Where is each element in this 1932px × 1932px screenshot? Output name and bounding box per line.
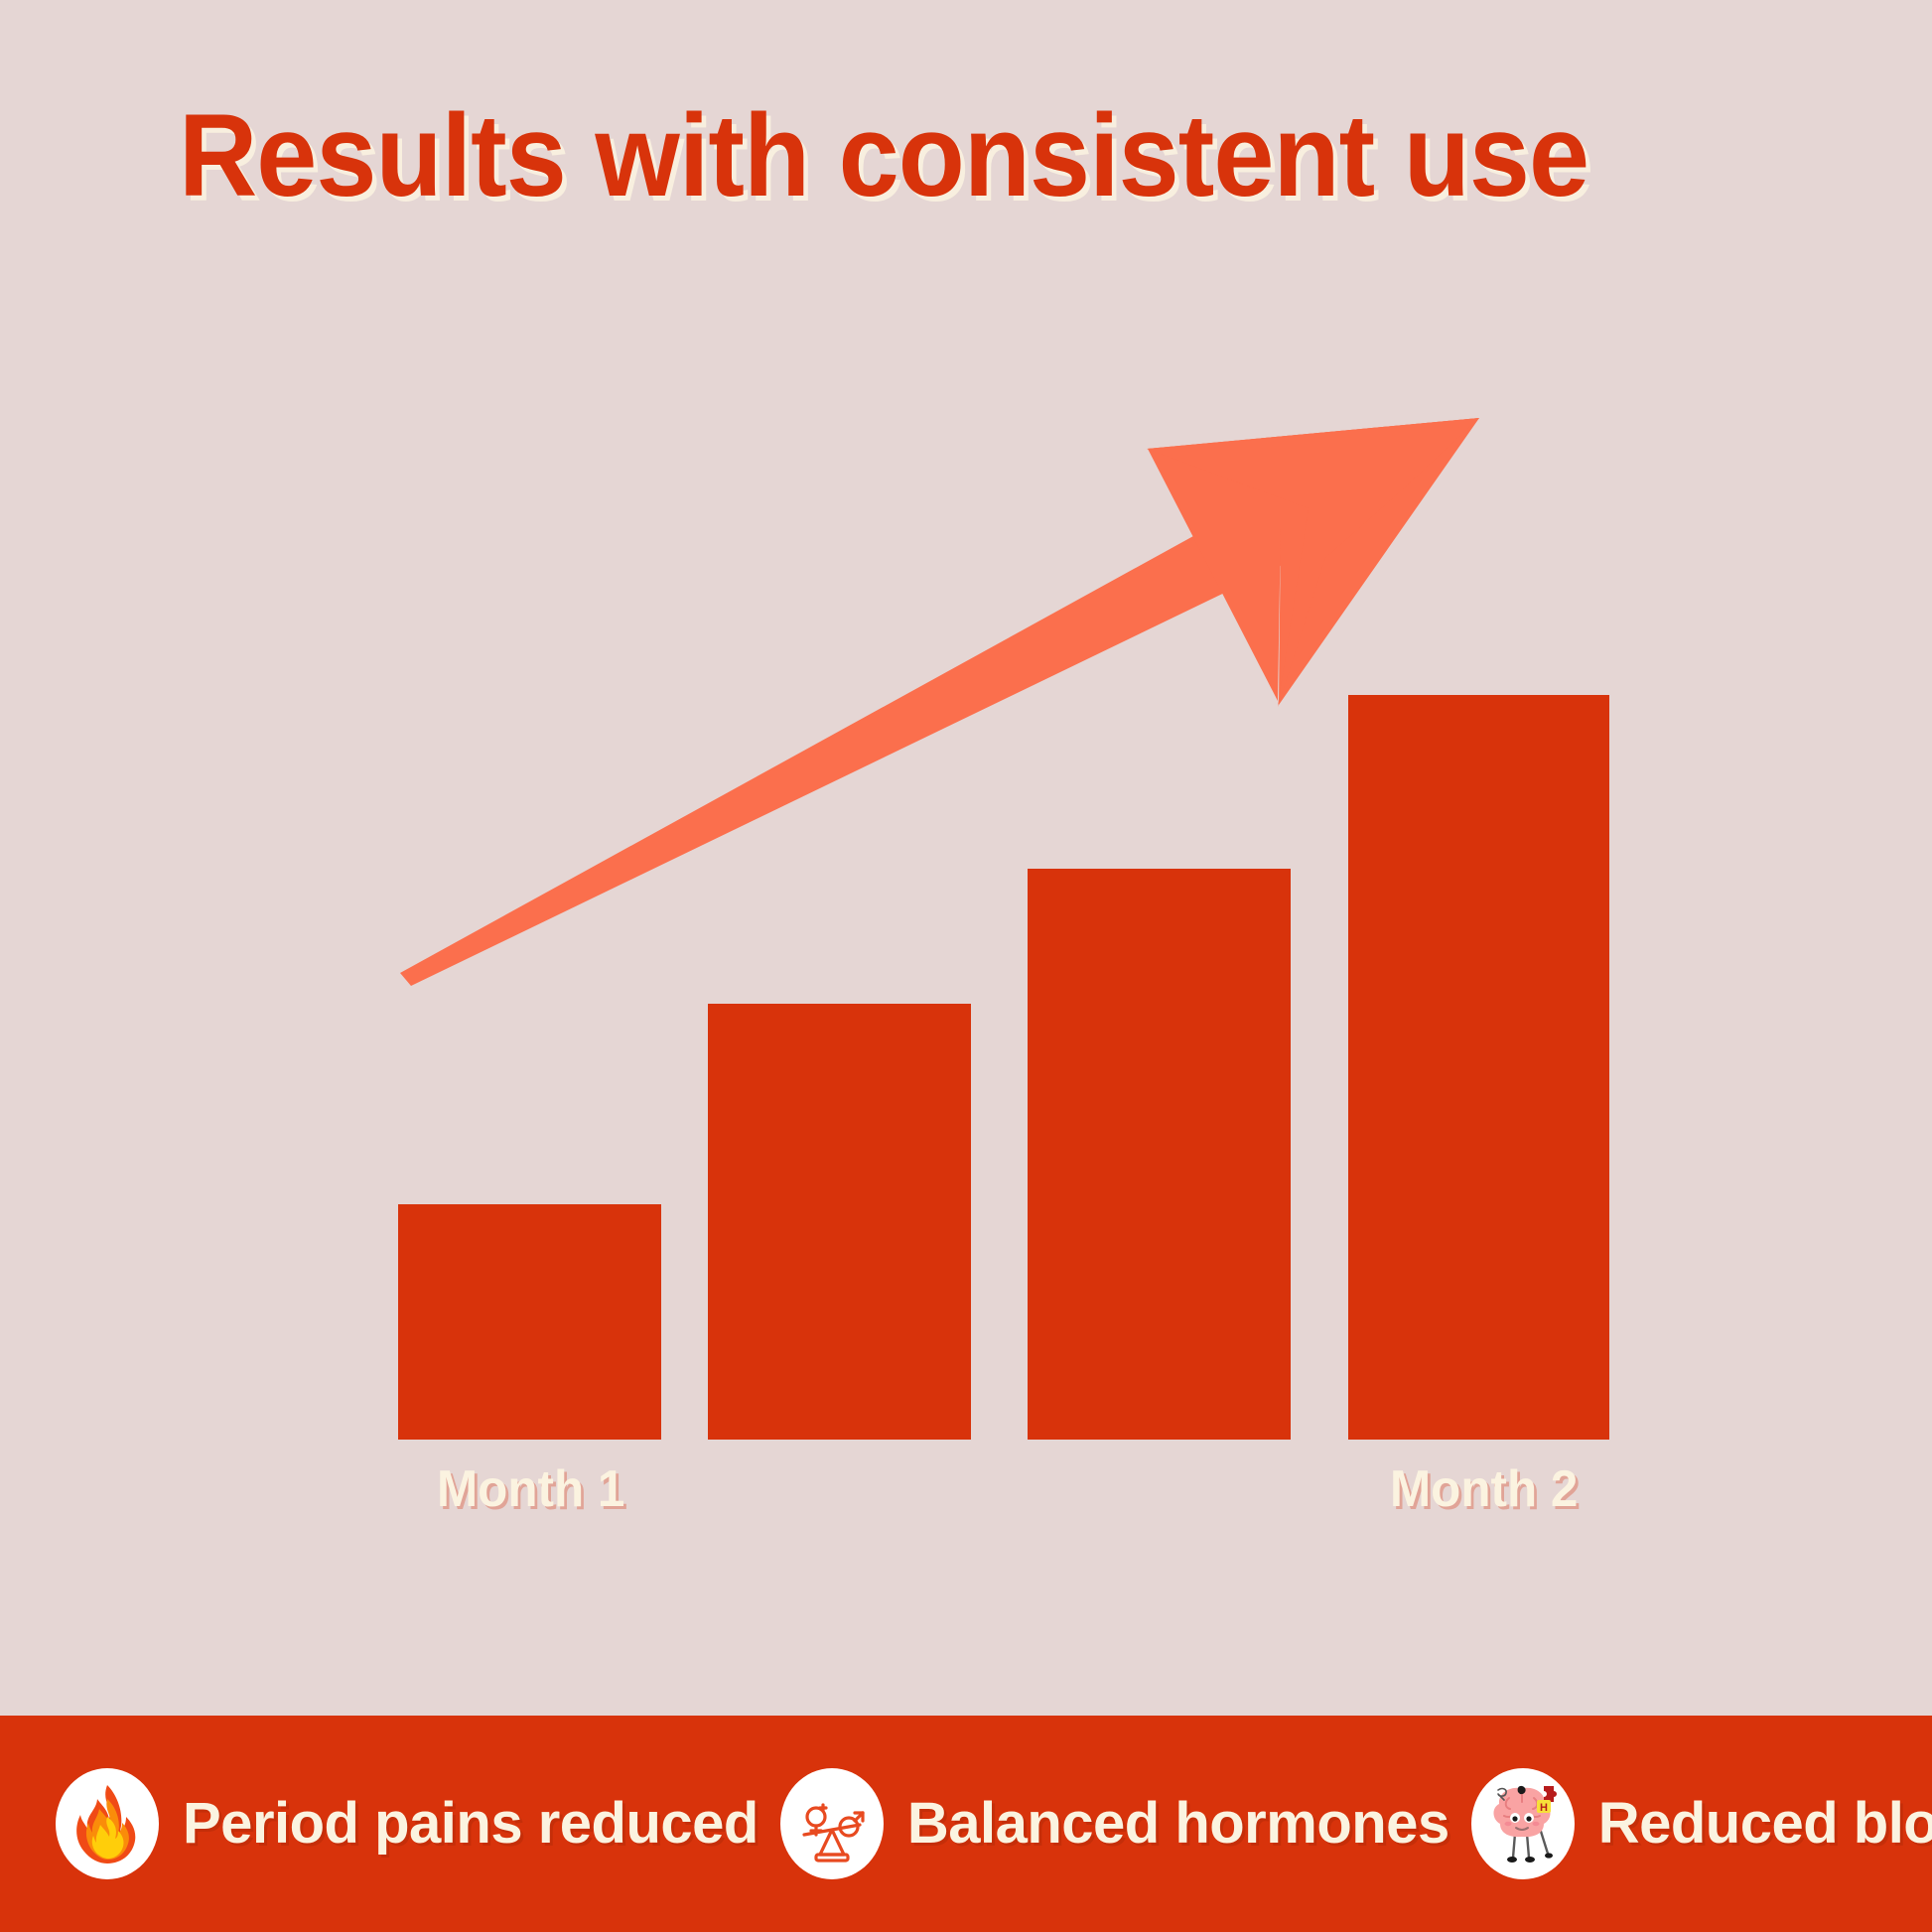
- promo-graphic: Results with consistent use Month 1 Mont…: [0, 0, 1932, 1932]
- x-axis-label-month-1: Month 1: [437, 1463, 624, 1515]
- bar-chart: Month 1 Month 2: [0, 0, 1932, 1716]
- svg-text:H: H: [1540, 1802, 1548, 1814]
- benefit-item-balanced-hormones: Balanced hormones: [780, 1768, 1449, 1879]
- benefits-banner: Period pains reduced: [0, 1716, 1932, 1932]
- benefit-label-reduced-bloating: Reduced bloating: [1598, 1795, 1932, 1853]
- arrow-head: [1148, 418, 1479, 705]
- flame-icon: [56, 1768, 159, 1879]
- brain-character-icon: H: [1471, 1768, 1575, 1879]
- bar-2: [708, 1004, 971, 1440]
- benefit-label-period-pains: Period pains reduced: [183, 1795, 759, 1853]
- arrow-head-main: [1148, 418, 1479, 705]
- bar-3: [1028, 869, 1291, 1440]
- arrow-head-fill: [1147, 418, 1479, 707]
- x-axis-label-month-2: Month 2: [1390, 1463, 1578, 1515]
- bar-month-2: [1348, 695, 1609, 1440]
- growth-arrow-icon: [0, 0, 1932, 1716]
- benefit-label-balanced-hormones: Balanced hormones: [907, 1795, 1449, 1853]
- benefit-item-reduced-bloating: H Reduced bloating: [1471, 1768, 1932, 1879]
- benefit-item-period-pains: Period pains reduced: [56, 1768, 759, 1879]
- balance-scale-gender-icon: [780, 1768, 884, 1879]
- bar-month-1: [398, 1204, 661, 1440]
